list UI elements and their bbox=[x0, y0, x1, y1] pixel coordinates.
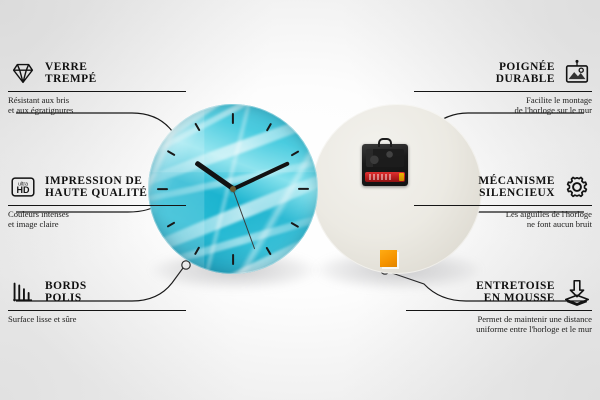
feature-title: MÉCANISME SILENCIEUX bbox=[478, 175, 555, 200]
feature-description: Surface lisse et sûre bbox=[8, 314, 186, 324]
gear-icon bbox=[562, 172, 592, 202]
feature-title: VERRE TREMPÉ bbox=[45, 61, 97, 86]
infographic-canvas: VERRE TREMPÉ Résistant aux bris et aux é… bbox=[0, 0, 600, 400]
feature-title: POIGNÉE DURABLE bbox=[496, 61, 555, 86]
feature-entretoise-en-mousse: ENTRETOISE EN MOUSSE Permet de maintenir… bbox=[406, 277, 592, 335]
feature-header: VERRE TREMPÉ bbox=[8, 58, 186, 88]
feature-header: BORDS POLIS bbox=[8, 277, 186, 307]
polished-edges-icon bbox=[8, 277, 38, 307]
mechanism-detail bbox=[366, 149, 404, 167]
foam-spacer-icon bbox=[562, 277, 592, 307]
feature-description: Permet de maintenir une distance uniform… bbox=[406, 314, 592, 335]
feature-rule bbox=[8, 205, 186, 206]
feature-rule bbox=[414, 91, 592, 92]
feature-title: ENTRETOISE EN MOUSSE bbox=[476, 280, 555, 305]
hanger-loop-icon bbox=[378, 138, 392, 147]
feature-header: POIGNÉE DURABLE bbox=[414, 58, 592, 88]
feature-header: ultra HD IMPRESSION DE HAUTE QUALITÉ bbox=[8, 172, 186, 202]
feature-mecanisme-silencieux: MÉCANISME SILENCIEUX Les aiguilles de l'… bbox=[414, 172, 592, 230]
feature-title: IMPRESSION DE HAUTE QUALITÉ bbox=[45, 175, 147, 200]
feature-verre-trempe: VERRE TREMPÉ Résistant aux bris et aux é… bbox=[8, 58, 186, 116]
feature-bords-polis: BORDS POLIS Surface lisse et sûre bbox=[8, 277, 186, 324]
feature-header: ENTRETOISE EN MOUSSE bbox=[406, 277, 592, 307]
feature-description: Couleurs intenses et image claire bbox=[8, 209, 186, 230]
battery bbox=[365, 172, 405, 182]
feature-rule bbox=[8, 310, 186, 311]
feature-header: MÉCANISME SILENCIEUX bbox=[414, 172, 592, 202]
clock-mechanism bbox=[362, 144, 408, 186]
hd-main-label: HD bbox=[17, 185, 30, 195]
feature-rule bbox=[8, 91, 186, 92]
battery-terminal bbox=[399, 173, 404, 181]
foam-spacer bbox=[380, 250, 397, 267]
feature-description: Les aiguilles de l'horloge ne font aucun… bbox=[414, 209, 592, 230]
diamond-icon bbox=[8, 58, 38, 88]
feature-impression-haute-qualite: ultra HD IMPRESSION DE HAUTE QUALITÉ Cou… bbox=[8, 172, 186, 230]
feature-rule bbox=[406, 310, 592, 311]
picture-hanger-icon bbox=[562, 58, 592, 88]
feature-description: Facilite le montage de l'horloge sur le … bbox=[414, 95, 592, 116]
feature-rule bbox=[414, 205, 592, 206]
feature-description: Résistant aux bris et aux égratignures bbox=[8, 95, 186, 116]
feature-title: BORDS POLIS bbox=[45, 280, 87, 305]
feature-poignee-durable: POIGNÉE DURABLE Facilite le montage de l… bbox=[414, 58, 592, 116]
battery-label bbox=[369, 174, 393, 180]
ultra-hd-icon: ultra HD bbox=[8, 172, 38, 202]
